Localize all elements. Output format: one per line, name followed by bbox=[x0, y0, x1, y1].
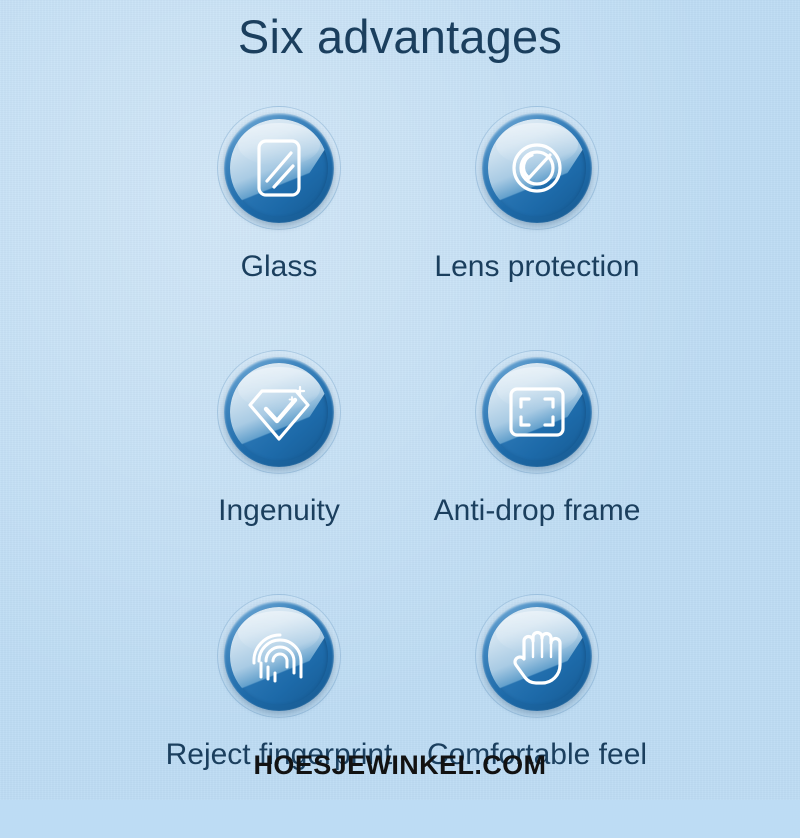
glass-screen-icon bbox=[217, 106, 341, 230]
diamond-check-icon bbox=[217, 350, 341, 474]
six-advantages-page: Six advantages Glass bbox=[0, 0, 800, 800]
site-watermark: HOESJEWINKEL.COM bbox=[0, 748, 800, 782]
diamond-check-glyph bbox=[230, 363, 328, 461]
features-row: Reject fingerprint Comfortable feel bbox=[0, 594, 800, 838]
camera-lens-icon bbox=[475, 106, 599, 230]
feature-label: Anti-drop frame bbox=[367, 492, 707, 530]
camera-lens-glyph bbox=[488, 119, 586, 217]
glass-screen-glyph bbox=[230, 119, 328, 217]
feature-item-comfortable-feel[interactable]: Comfortable feel bbox=[367, 594, 707, 774]
feature-item-lens-protection[interactable]: Lens protection bbox=[367, 106, 707, 286]
features-row: Glass Lens protection bbox=[0, 106, 800, 350]
features-grid: Glass Lens protection bbox=[0, 106, 800, 838]
corner-brackets-frame-icon bbox=[475, 350, 599, 474]
open-hand-glyph bbox=[488, 607, 586, 705]
features-row: Ingenuity Anti-drop frame bbox=[0, 350, 800, 594]
open-hand-icon bbox=[475, 594, 599, 718]
feature-item-anti-drop-frame[interactable]: Anti-drop frame bbox=[367, 350, 707, 530]
page-title: Six advantages bbox=[0, 6, 800, 68]
fingerprint-glyph bbox=[230, 607, 328, 705]
feature-label: Lens protection bbox=[367, 248, 707, 286]
fingerprint-icon bbox=[217, 594, 341, 718]
corner-brackets-frame-glyph bbox=[488, 363, 586, 461]
